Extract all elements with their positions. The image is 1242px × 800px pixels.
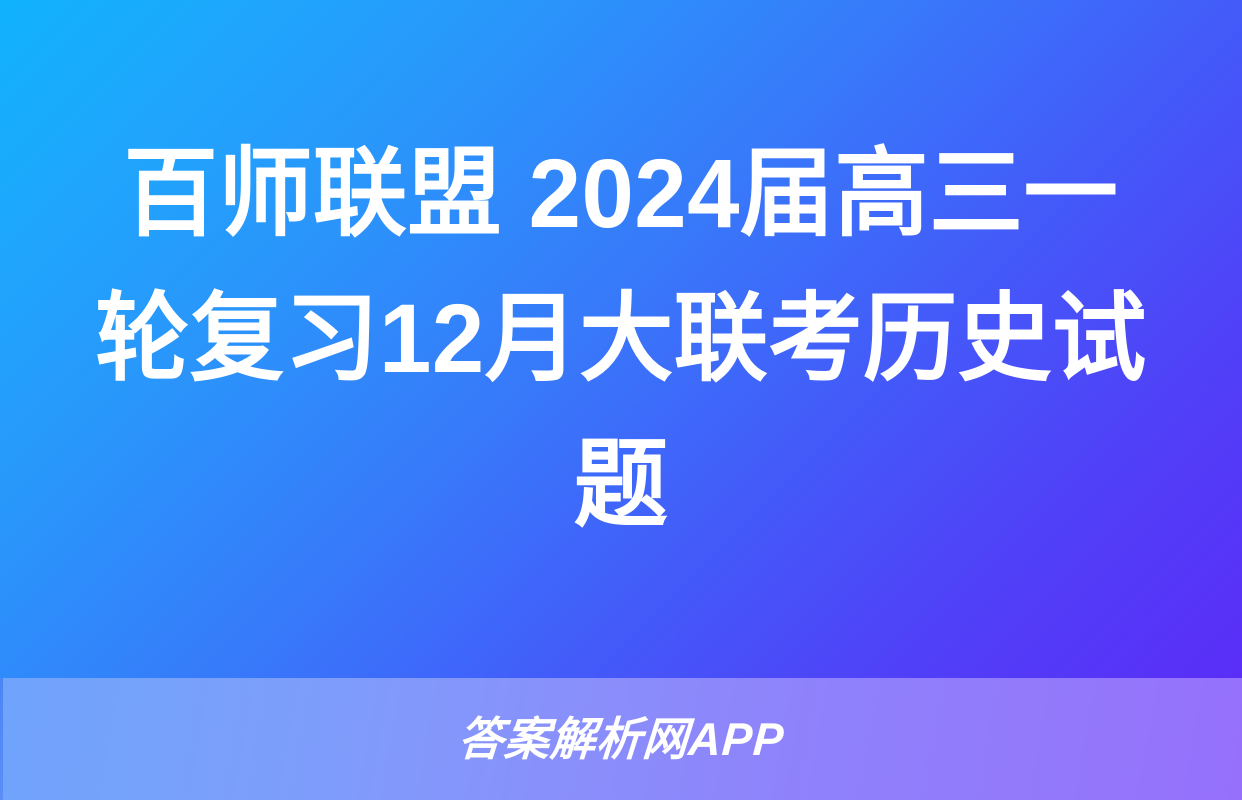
watermark-band: 答案解析网APP [0, 678, 1242, 800]
poster-canvas: 百师联盟 2024届高三一轮复习12月大联考历史试题 答案解析网APP [0, 0, 1242, 800]
page-title: 百师联盟 2024届高三一轮复习12月大联考历史试题 [78, 121, 1164, 558]
hero-banner: 百师联盟 2024届高三一轮复习12月大联考历史试题 [0, 0, 1242, 678]
watermark-text: 答案解析网APP [456, 716, 785, 762]
